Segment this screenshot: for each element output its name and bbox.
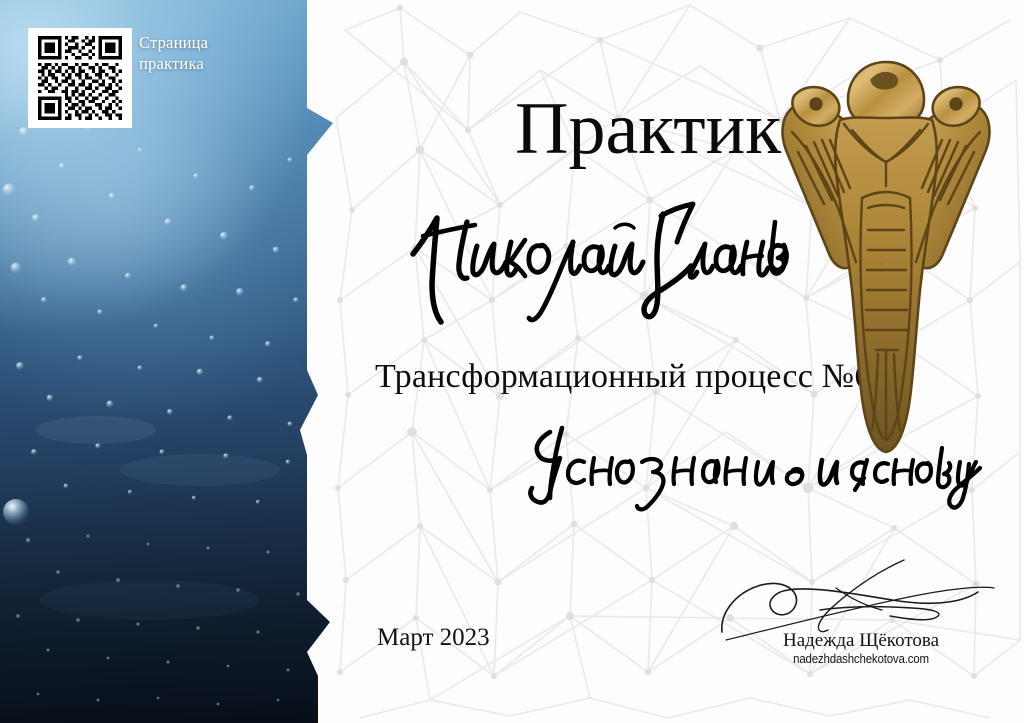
qr-caption: Страница практика	[139, 32, 259, 74]
holder-name	[405, 192, 775, 302]
qr-code-icon	[38, 36, 122, 120]
page-title: Практик	[515, 92, 781, 166]
qr-caption-line-2: практика	[139, 53, 259, 74]
holder-name-handwriting	[405, 192, 785, 312]
golden-bird-amulet-icon	[778, 58, 994, 483]
qr-caption-line-1: Страница	[139, 32, 259, 53]
date-line: Март 2023	[377, 624, 490, 652]
certificate-canvas: Страница практика Практик	[0, 0, 1024, 723]
signer-name: Надежда Щёкотова	[716, 630, 1006, 652]
signer-website[interactable]: nadezhdashchekotova.com	[728, 652, 995, 667]
qr-code-card[interactable]	[28, 28, 132, 128]
